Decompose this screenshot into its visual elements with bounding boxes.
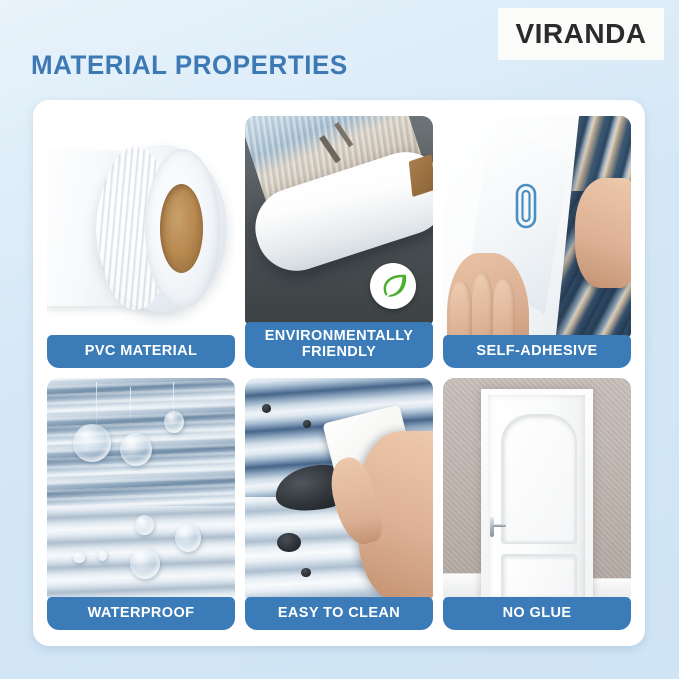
paperclip-icon [514, 182, 538, 230]
feature-card-waterproof[interactable]: WATERPROOF [47, 378, 235, 630]
pvc-roll-illustration [47, 116, 235, 337]
feature-label-easy-to-clean: EASY TO CLEAN [245, 597, 433, 630]
finger-3 [493, 279, 515, 336]
door-panel-lower [501, 554, 577, 599]
feature-card-self-adhesive[interactable]: SELF-ADHESIVE [443, 116, 631, 368]
stain-small-5 [301, 568, 310, 577]
feature-label-self-adhesive: SELF-ADHESIVE [443, 335, 631, 368]
feature-card-pvc-material[interactable]: PVC MATERIAL [47, 116, 235, 368]
door-frame [481, 389, 594, 599]
features-panel: PVC MATERIAL [33, 100, 645, 646]
roll-corner-shape [409, 153, 433, 196]
handle-plate [490, 517, 493, 537]
water-drop-7 [73, 552, 84, 563]
water-drop-1 [73, 424, 111, 462]
baseboard-right [592, 578, 631, 599]
page-title: MATERIAL PROPERTIES [31, 50, 348, 81]
cardboard-core-shape [160, 184, 203, 272]
brand-logo: VIRANDA [498, 8, 664, 60]
feature-card-no-glue[interactable]: NO GLUE [443, 378, 631, 630]
finger-1 [450, 281, 472, 336]
feature-label-environmentally-friendly: ENVIRONMENTALLY FRIENDLY [245, 322, 433, 368]
stain-small-2 [303, 420, 311, 428]
door-slab [488, 395, 585, 598]
water-drop-6 [130, 548, 160, 579]
right-hand-shape [575, 178, 631, 288]
features-grid: PVC MATERIAL [47, 116, 631, 630]
feature-label-waterproof: WATERPROOF [47, 597, 235, 630]
brand-name: VIRANDA [515, 18, 646, 50]
door-handle [490, 517, 506, 535]
door-panel-arched [501, 414, 577, 544]
eco-wallpaper-image [245, 116, 433, 324]
water-streak-2 [130, 387, 132, 422]
infographic-page: VIRANDA MATERIAL PROPERTIES PVC MATERIAL [0, 0, 679, 679]
waterproof-image [47, 378, 235, 599]
eco-badge [370, 263, 416, 309]
handle-lever [492, 524, 506, 527]
feature-card-easy-to-clean[interactable]: EASY TO CLEAN [245, 378, 433, 630]
feature-card-environmentally-friendly[interactable]: ENVIRONMENTALLY FRIENDLY [245, 116, 433, 368]
baseboard-left [443, 573, 482, 598]
feature-label-no-glue: NO GLUE [443, 597, 631, 630]
green-leaf-icon [378, 271, 408, 301]
feature-label-pvc-material: PVC MATERIAL [47, 335, 235, 368]
finger-2 [472, 273, 494, 337]
water-drop-4 [135, 515, 154, 535]
stain-small-1 [262, 404, 271, 413]
easy-to-clean-image [245, 378, 433, 599]
pvc-roll-image [47, 116, 235, 337]
self-adhesive-image [443, 116, 631, 337]
no-glue-image [443, 378, 631, 599]
